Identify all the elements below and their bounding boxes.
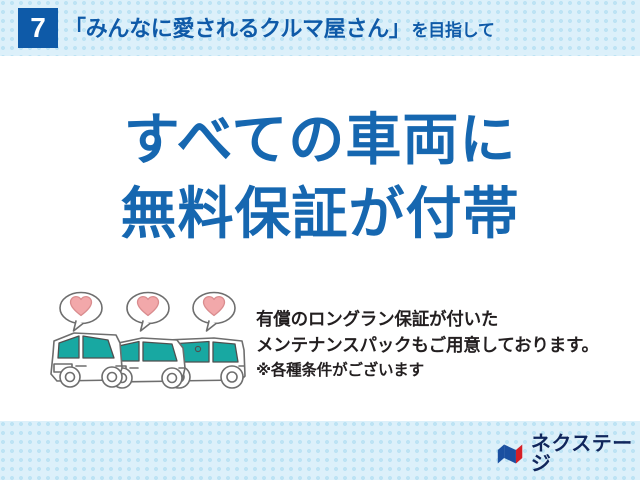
headline-line-1: すべての車両に — [0, 112, 640, 168]
header-title-sub: を目指して — [411, 16, 495, 41]
heart-bubble-center — [127, 293, 169, 332]
heart-bubble-left — [60, 293, 102, 332]
promo-banner: 7 「みんなに愛されるクルマ屋さん」 を目指して すべての車両に 無料保証が付帯 — [0, 0, 640, 480]
heart-bubble-right — [193, 293, 235, 332]
body-copy-line-3: ※各種条件がございます — [256, 358, 626, 384]
body-copy: 有償のロングラン保証が付いた メンテナンスパックもご用意しております。 ※各種条… — [256, 306, 626, 384]
car-tall-wagon — [51, 333, 122, 387]
brand-logo-text: ネクステージ — [531, 434, 640, 474]
body-copy-line-1: 有償のロングラン保証が付いた — [256, 306, 626, 332]
header-title-main: 「みんなに愛されるクルマ屋さん」 — [64, 11, 411, 43]
body-copy-line-2: メンテナンスパックもご用意しております。 — [256, 332, 626, 358]
three-cars-illustration — [46, 288, 250, 396]
header-badge-number: 7 — [18, 8, 58, 48]
headline-line-2: 無料保証が付帯 — [0, 186, 640, 242]
brand-logo: ネクステージ — [497, 440, 640, 468]
nexstage-n-logo-icon — [497, 442, 524, 466]
header-title: 「みんなに愛されるクルマ屋さん」 を目指して — [64, 11, 495, 45]
